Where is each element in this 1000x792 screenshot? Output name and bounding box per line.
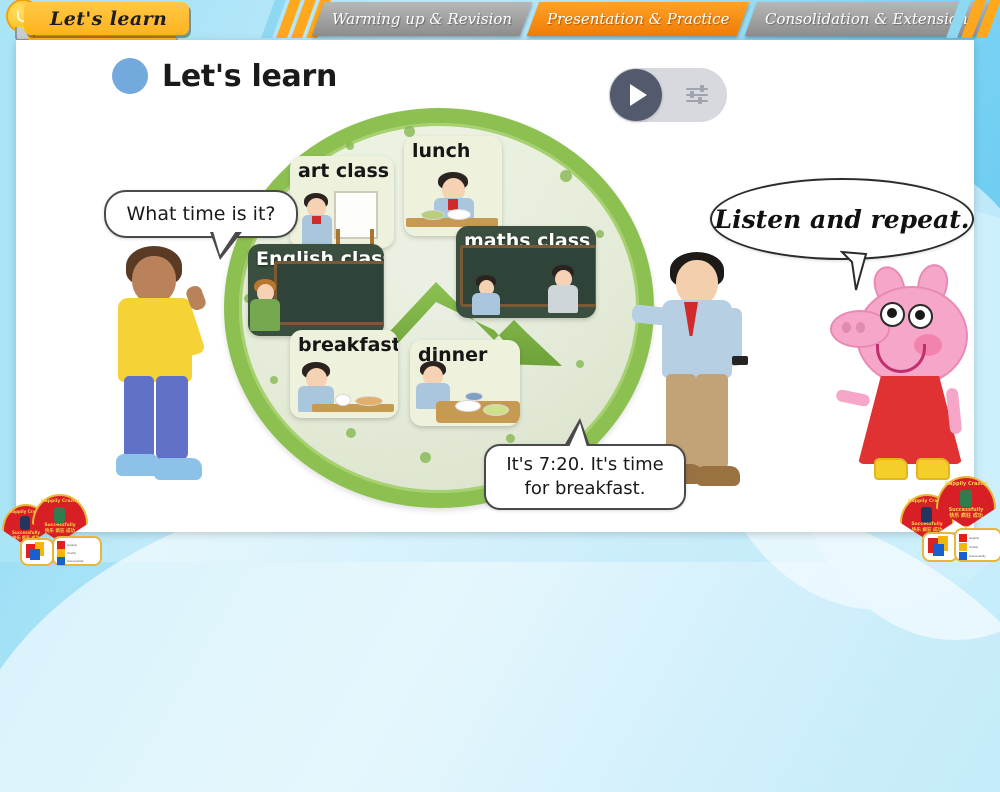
- logo-legend: Happily Crazily Successfully: [954, 528, 1000, 562]
- card-illustration: [290, 362, 398, 418]
- boy-left-character: [104, 246, 214, 490]
- tab-warming-up-label: Warming up & Revision: [332, 10, 512, 28]
- play-icon: [630, 84, 647, 106]
- ring-dot: [596, 230, 604, 238]
- page-title: Let's learn: [162, 59, 337, 94]
- ring-dot: [346, 428, 356, 438]
- card-illustration: [456, 259, 596, 318]
- tab-bar: Warming up & Revision Presentation & Pra…: [318, 2, 988, 38]
- card-illustration: [410, 371, 520, 426]
- header-bar: Let's learn Warming up & Revision Presen…: [0, 0, 1000, 44]
- decor-slashes-right: [953, 0, 994, 40]
- blue-circle-bullet-icon: [112, 58, 148, 94]
- tab-presentation-practice[interactable]: Presentation & Practice: [527, 2, 750, 36]
- ring-dot: [560, 170, 572, 182]
- bubble-instruction-text: Listen and repeat.: [715, 205, 970, 234]
- card-english-class[interactable]: English class: [248, 244, 384, 336]
- badge-cluster-right: Happily Crazily Successfully 快乐 疯狂 成功 Ha…: [896, 470, 1000, 562]
- ring-dot: [346, 142, 354, 150]
- bubble-answer-text: It's 7:20. It's time for breakfast.: [506, 453, 663, 501]
- tab-presentation-practice-label: Presentation & Practice: [547, 10, 729, 28]
- ring-dot: [506, 434, 515, 443]
- bubble-answer-line1: It's 7:20. It's time: [506, 454, 663, 475]
- card-illustration: [248, 277, 384, 336]
- bubble-listen-and-repeat: Listen and repeat.: [710, 178, 974, 260]
- brand-title: Let's learn: [50, 8, 167, 30]
- ring-dot: [420, 452, 431, 463]
- card-breakfast[interactable]: breakfast: [290, 330, 398, 418]
- ring-dot: [576, 360, 584, 368]
- ring-dot: [270, 376, 278, 384]
- bubble-answer-line2: for breakfast.: [525, 478, 646, 499]
- bubble-tail: [564, 418, 590, 446]
- badge-cluster-left: Happily Crazily Successfully 快乐 疯狂 成功 Ha…: [2, 486, 106, 562]
- tab-consolidation-extension-label: Consolidation & Extension: [765, 10, 968, 28]
- bubble-tail: [210, 232, 242, 260]
- bubble-listen-tail: [840, 250, 880, 292]
- card-maths-class[interactable]: maths class: [456, 226, 596, 318]
- card-label: lunch: [404, 136, 502, 166]
- card-illustration: [290, 189, 394, 248]
- tab-warming-up[interactable]: Warming up & Revision: [312, 2, 532, 36]
- h-cube-logo-icon: [922, 532, 958, 562]
- card-lunch[interactable]: lunch: [404, 136, 502, 236]
- slide-canvas: Let's learn Warming up & Revision Presen…: [0, 0, 1000, 562]
- peppa-pig-mascot: [830, 280, 980, 490]
- bubble-question-text: What time is it?: [127, 203, 276, 225]
- page-title-group: Let's learn: [112, 58, 337, 94]
- sliders-icon[interactable]: [686, 86, 708, 104]
- card-label: art class: [290, 156, 394, 186]
- brand-tab[interactable]: Let's learn: [24, 2, 189, 35]
- card-label: breakfast: [290, 330, 398, 360]
- wristwatch-icon: [732, 356, 748, 365]
- bubble-what-time: What time is it?: [104, 190, 298, 238]
- bubble-answer: It's 7:20. It's time for breakfast.: [484, 444, 686, 510]
- card-dinner[interactable]: dinner: [410, 340, 520, 426]
- card-art-class[interactable]: art class: [290, 156, 394, 248]
